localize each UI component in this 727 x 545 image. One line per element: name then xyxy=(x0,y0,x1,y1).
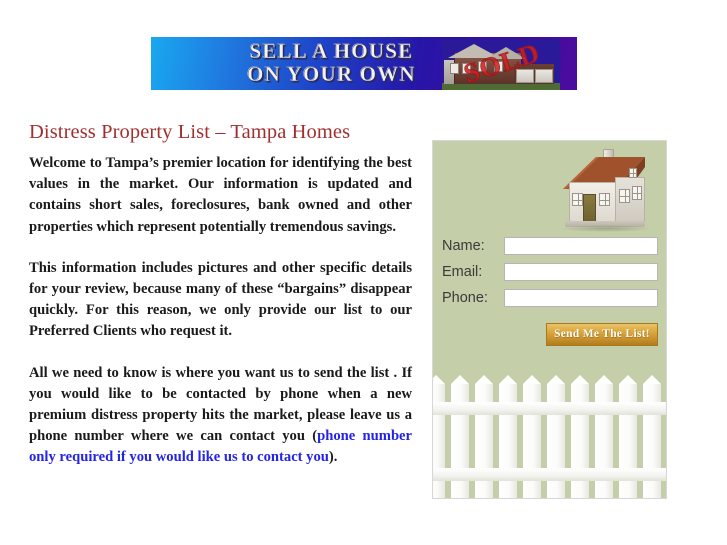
contact-paragraph-tail: ). xyxy=(329,449,338,465)
phone-input[interactable] xyxy=(504,289,658,307)
house-shadow xyxy=(561,225,651,232)
form-row-name: Name: xyxy=(442,237,658,255)
intro-paragraph: Welcome to Tampa’s premier location for … xyxy=(29,153,412,238)
house-window-1 xyxy=(572,193,583,206)
form-row-phone: Phone: xyxy=(442,289,658,307)
page-title: Distress Property List – Tampa Homes xyxy=(29,120,412,144)
banner-headline-line2: ON YOUR OWN xyxy=(199,63,464,86)
house-door-icon xyxy=(583,194,596,224)
send-me-the-list-button[interactable]: Send Me The List! xyxy=(546,323,658,346)
house-attic-window xyxy=(629,168,637,178)
form-row-email: Email: xyxy=(442,263,658,281)
email-label: Email: xyxy=(442,263,504,281)
fence-picket-tip xyxy=(571,375,589,384)
fence-picket-tip xyxy=(475,375,493,384)
banner-headline: SELL A HOUSE ON YOUR OWN xyxy=(199,40,464,86)
fence-picket-tip xyxy=(451,375,469,384)
house-icon xyxy=(555,149,659,233)
banner-house-photo: SOLD xyxy=(442,39,560,90)
banner-photo-garage-door-right xyxy=(535,69,553,83)
fence-picket-tip xyxy=(523,375,541,384)
signup-form-panel: Name: Email: Phone: Send Me The List! xyxy=(432,140,667,499)
fence-picket-tip xyxy=(643,375,661,384)
fence-picket-tip xyxy=(619,375,637,384)
picket-fence xyxy=(433,372,666,498)
banner-headline-line1: SELL A HOUSE xyxy=(199,40,464,63)
house-window-3 xyxy=(619,189,630,203)
email-input[interactable] xyxy=(504,263,658,281)
site-banner: SELL A HOUSE ON YOUR OWN SOLD xyxy=(151,37,577,90)
house-window-2 xyxy=(599,193,610,206)
form-fields: Name: Email: Phone: xyxy=(442,237,658,315)
fence-picket-tip xyxy=(595,375,613,384)
fence-rail-top xyxy=(433,402,666,415)
name-label: Name: xyxy=(442,237,504,255)
details-paragraph: This information includes pictures and o… xyxy=(29,258,412,343)
name-input[interactable] xyxy=(504,237,658,255)
submit-button-wrap: Send Me The List! xyxy=(442,323,658,346)
house-window-4 xyxy=(632,186,642,200)
contact-paragraph: All we need to know is where you want us… xyxy=(29,363,412,469)
fence-picket-tip xyxy=(433,375,445,384)
phone-label: Phone: xyxy=(442,289,504,307)
fence-picket-tip xyxy=(547,375,565,384)
fence-picket-tip xyxy=(499,375,517,384)
fence-rail-bottom xyxy=(433,468,666,481)
article-column: Distress Property List – Tampa Homes Wel… xyxy=(29,120,412,469)
